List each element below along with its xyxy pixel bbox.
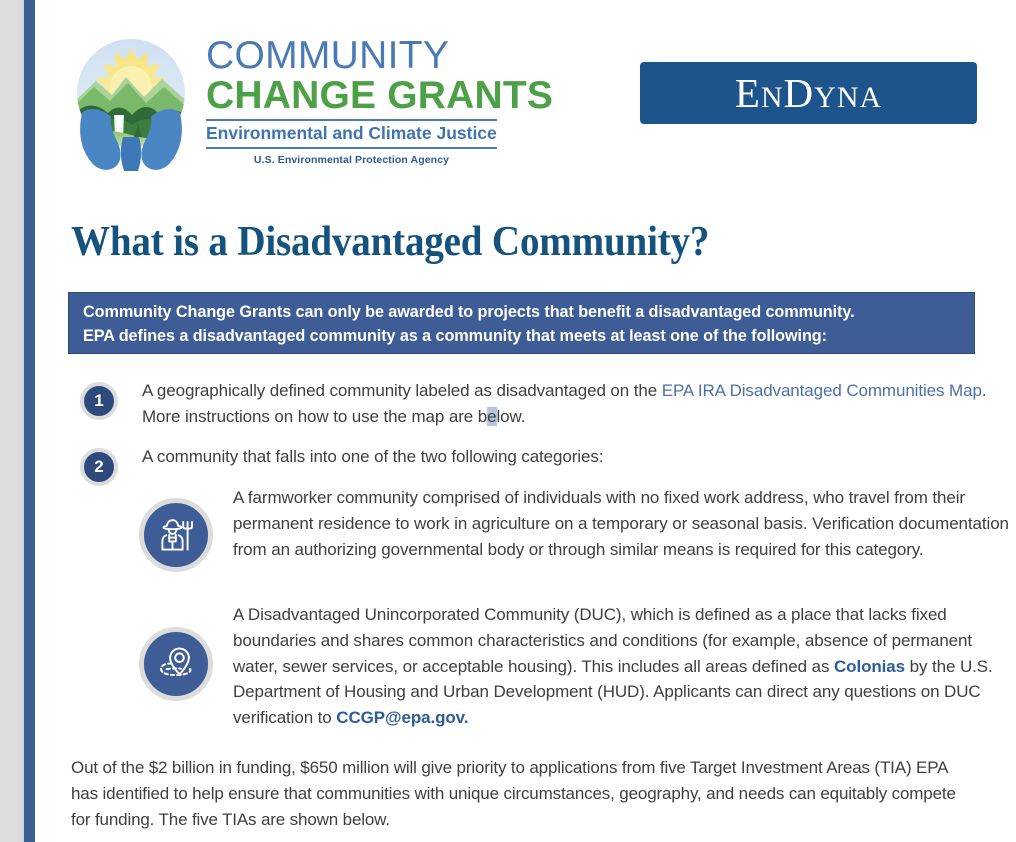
endyna-wordmark: ENDYNA [735,73,882,114]
farmworker-icon [139,498,213,572]
callout-line-1: Community Change Grants can only be awar… [83,301,947,325]
page-title: What is a Disadvantaged Community? [71,218,709,266]
numbered-item-2: 2 A community that falls into one of the… [80,444,1010,486]
logo-divider-top [206,119,497,121]
callout-line-2: EPA defines a disadvantaged community as… [83,325,947,349]
category-block-farmworker: A farmworker community comprised of indi… [139,485,1016,572]
logo-divider-bottom [206,147,497,149]
logo-line-agency: U.S. Environmental Protection Agency [206,154,497,166]
callout-banner: Community Change Grants can only be awar… [68,292,975,354]
left-blue-accent-bar [24,0,35,842]
endyna-logo: ENDYNA [640,62,977,124]
logo-line-change-grants: CHANGE GRANTS [206,76,536,116]
text-caret-selection: e [487,407,496,426]
farmworker-paragraph: A farmworker community comprised of indi… [233,485,1016,562]
ccgp-email-link[interactable]: CCGP@epa.gov. [336,708,468,727]
map-pin-dashed-boundary-icon [139,627,213,701]
item1-text-before: A geographically defined community label… [142,381,662,400]
epa-community-change-grants-logo: COMMUNITY CHANGE GRANTS Environmental an… [68,28,533,178]
page-content: COMMUNITY CHANGE GRANTS Environmental an… [35,0,1016,842]
numbered-item-2-text: A community that falls into one of the t… [142,444,603,470]
epa-emblem-icon [68,31,194,171]
colonias-link[interactable]: Colonias [834,657,905,676]
closing-paragraph: Out of the $2 billion in funding, $650 m… [71,755,976,832]
logo-line-ecj: Environmental and Climate Justice [206,123,536,144]
numbered-item-1-text: A geographically defined community label… [142,378,1010,430]
number-badge-2: 2 [80,448,118,486]
logo-line-community: COMMUNITY [206,36,536,76]
document-page: COMMUNITY CHANGE GRANTS Environmental an… [0,0,1016,842]
duc-paragraph: A Disadvantaged Unincorporated Community… [233,602,1016,731]
epa-wordmark: COMMUNITY CHANGE GRANTS Environmental an… [206,36,536,166]
header: COMMUNITY CHANGE GRANTS Environmental an… [35,18,1016,178]
number-badge-1: 1 [80,382,118,420]
left-gray-margin [0,0,22,842]
numbered-item-1: 1 A geographically defined community lab… [80,378,1010,430]
item1-text-after-b: low. [497,407,526,426]
category-block-duc: A Disadvantaged Unincorporated Community… [139,602,1016,731]
epa-ira-disadvantaged-communities-map-link[interactable]: EPA IRA Disadvantaged Communities Map [662,381,982,400]
